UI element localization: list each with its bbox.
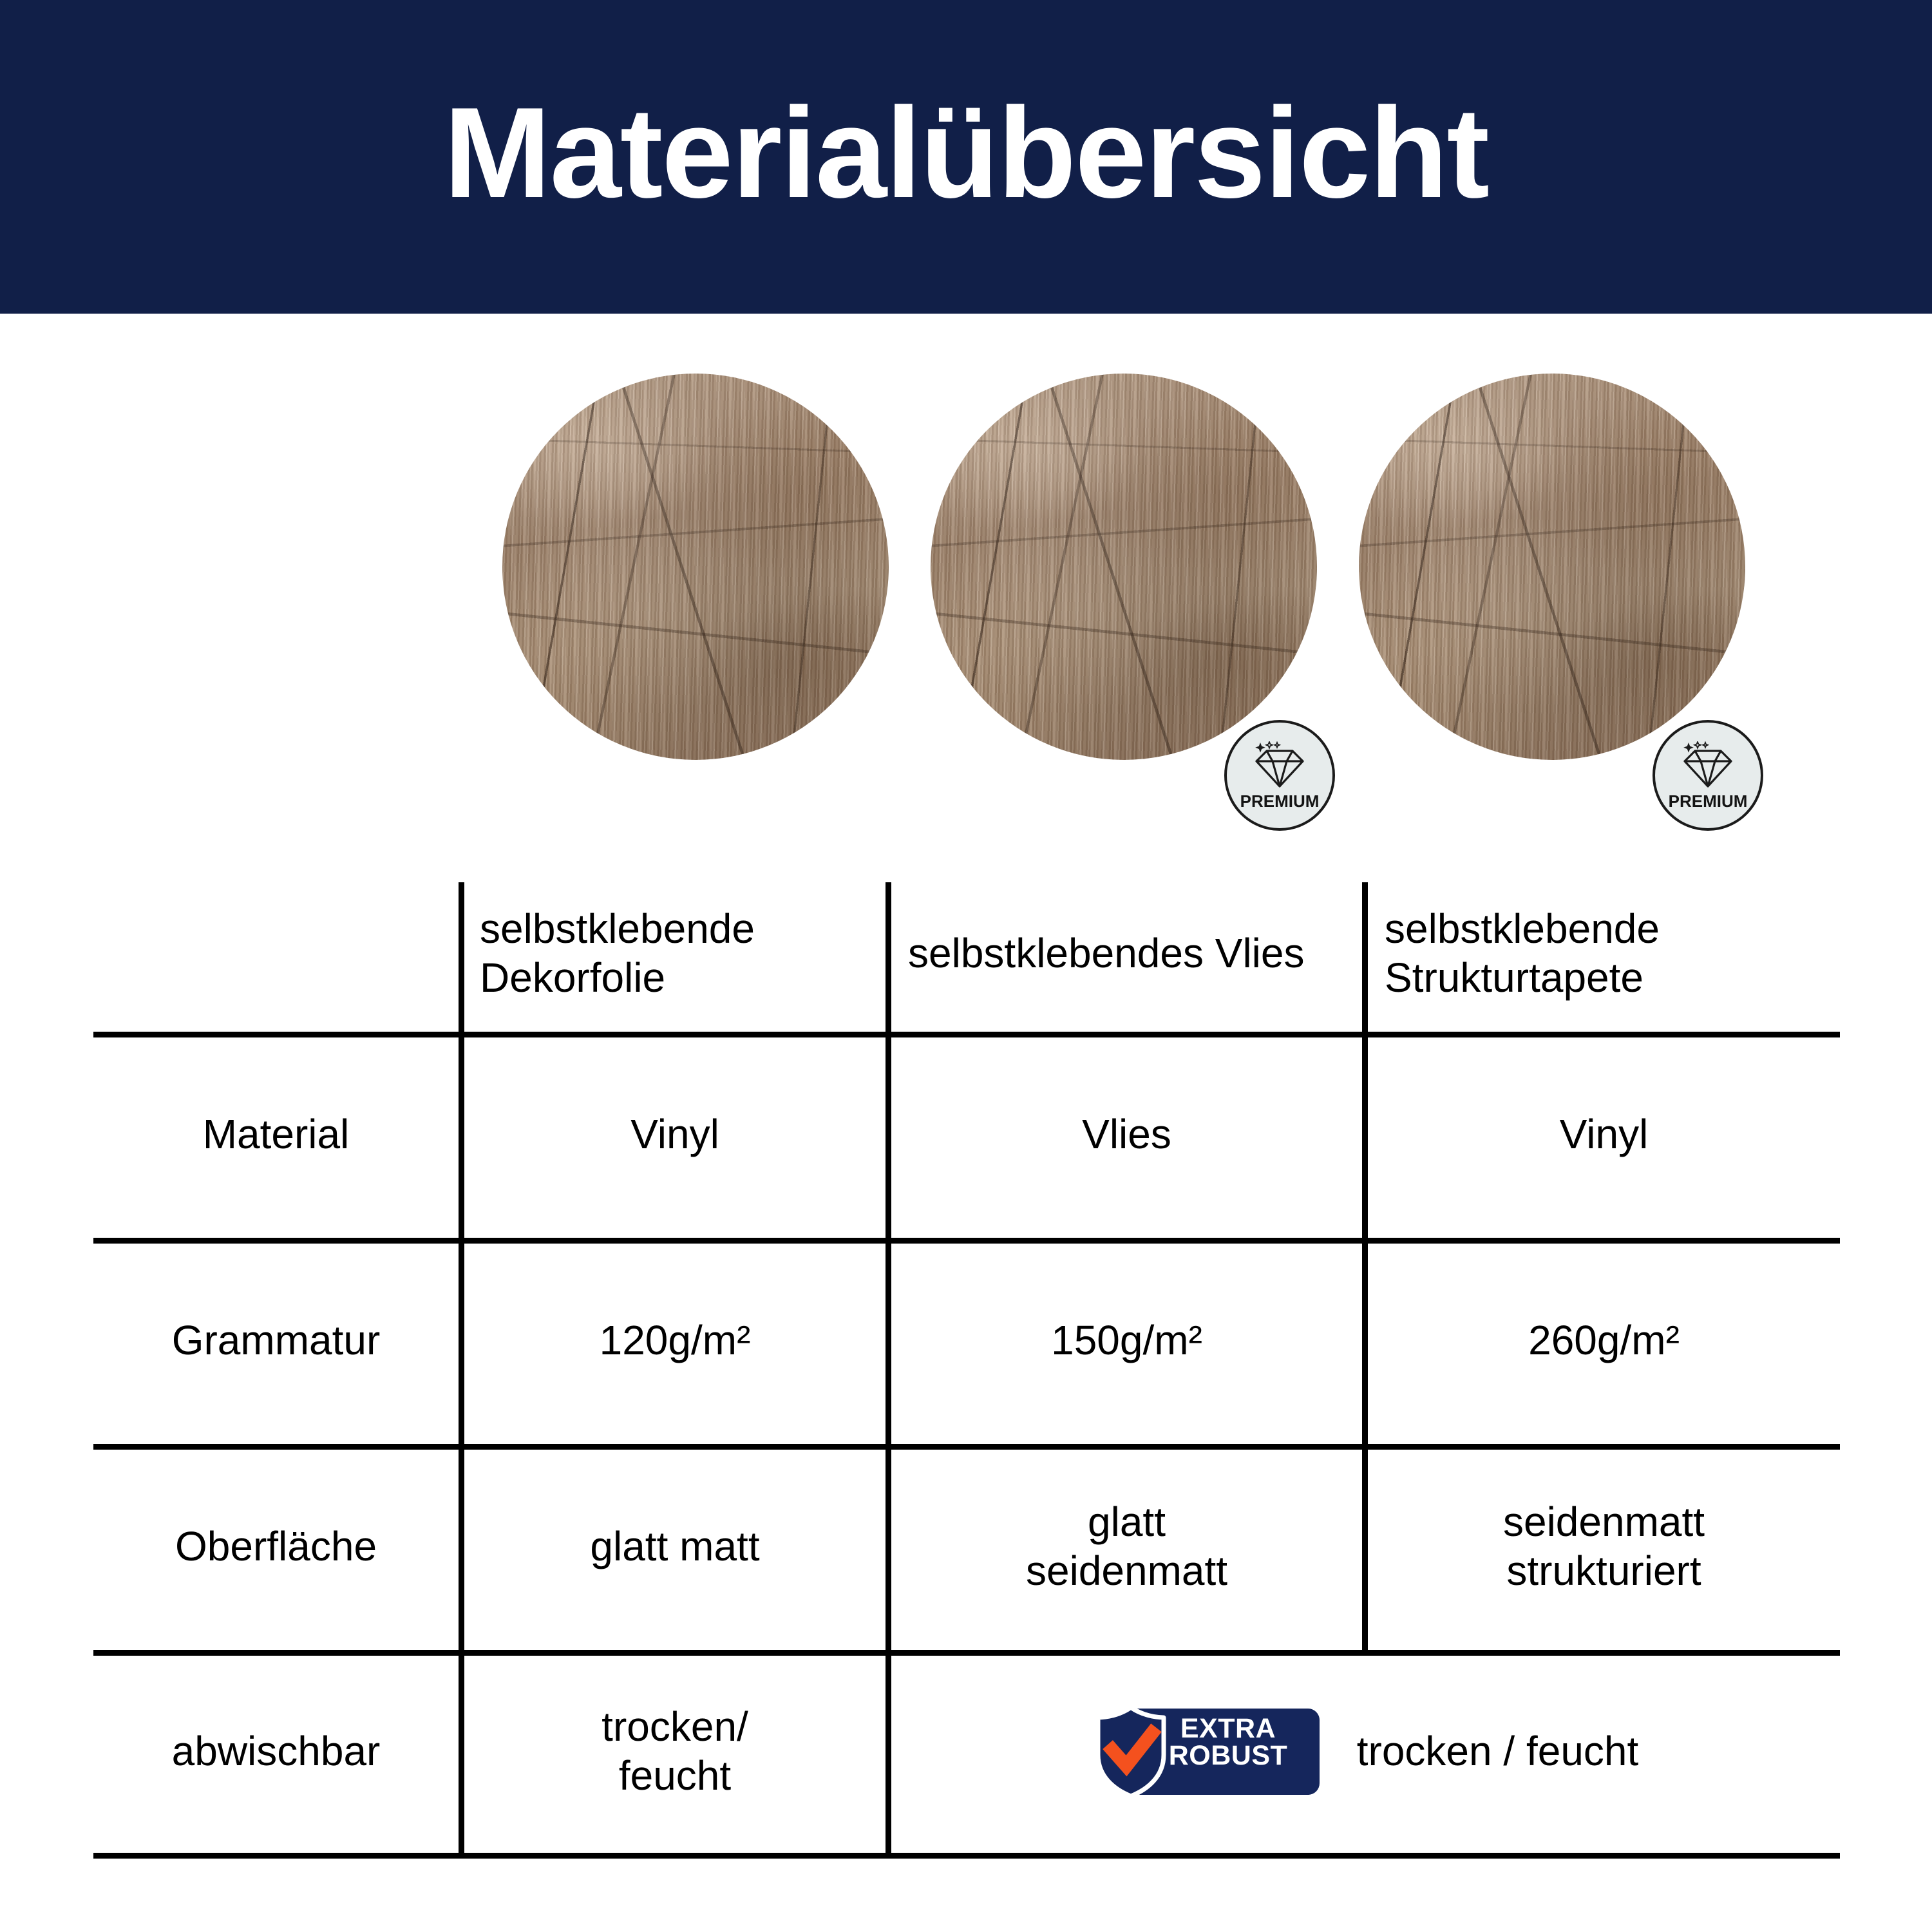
cell-value: Vlies [1082,1110,1171,1159]
cell-value: 150g/m² [1051,1316,1202,1365]
cell-value: 260g/m² [1528,1316,1680,1365]
extra-robust-badge: EXTRAROBUST [1093,1703,1320,1800]
cell-value: seidenmattstrukturiert [1503,1498,1705,1595]
column-header-label: selbstklebende Strukturtapete [1385,905,1829,1002]
cell-value: glatt matt [590,1522,759,1571]
table-vline-3 [1362,882,1368,1650]
extra-robust-label: EXTRAROBUST [1169,1715,1288,1769]
table-vline-1 [459,882,464,1853]
row-label: abwischbar [172,1727,381,1776]
table-cell-oberflaeche-strukturtapete: seidenmattstrukturiert [1368,1444,1840,1650]
wood-texture-image [931,374,1317,760]
premium-badge-strukturtapete: PREMIUM [1646,714,1770,837]
row-label: Material [203,1110,350,1159]
table-cell-material-vlies: Vlies [891,1032,1362,1238]
cell-value: trocken / feucht [1357,1727,1639,1776]
table-column-header-strukturtapete: selbstklebende Strukturtapete [1385,876,1829,1032]
table-column-header-vlies: selbstklebendes Vlies [908,876,1352,1032]
table-cell-oberflaeche-dekorfolie: glatt matt [464,1444,885,1650]
table-cell-oberflaeche-vlies: glattseidenmatt [891,1444,1362,1650]
table-cell-grammatur-dekorfolie: 120g/m² [464,1238,885,1444]
column-header-label: selbstklebendes Vlies [908,929,1304,978]
table-column-header-dekorfolie: selbstklebende Dekorfolie [480,876,866,1032]
cell-value: Vinyl [630,1110,719,1159]
table-cell-material-strukturtapete: Vinyl [1368,1032,1840,1238]
swatch-circle-dekorfolie[interactable] [502,374,889,760]
column-header-label: selbstklebende Dekorfolie [480,905,866,1002]
premium-badge-label: PREMIUM [1669,793,1748,810]
cell-value: glattseidenmatt [1026,1498,1227,1595]
row-label: Grammatur [172,1316,381,1365]
table-row-label-oberflaeche: Oberfläche [93,1444,459,1650]
cell-value: trocken/feucht [601,1703,748,1800]
extra-robust-line1: EXTRA [1180,1713,1276,1744]
table-vline-2 [885,882,891,1853]
swatch-circle-strukturtapete[interactable] [1359,374,1745,760]
table-row-label-abwischbar: abwischbar [93,1650,459,1853]
table-cell-material-dekorfolie: Vinyl [464,1032,885,1238]
wood-texture-image [1359,374,1745,760]
extra-robust-line2: ROBUST [1169,1740,1288,1771]
cell-value: Vinyl [1560,1110,1649,1159]
table-cell-abwischbar-dekorfolie: trocken/feucht [464,1650,885,1853]
table-row-label-grammatur: Grammatur [93,1238,459,1444]
table-cell-grammatur-vlies: 150g/m² [891,1238,1362,1444]
swatch-row: PREMIUM [0,361,1932,773]
premium-badge-label: PREMIUM [1240,793,1320,810]
page-title: Materialübersicht [444,89,1488,218]
table-cell-grammatur-strukturtapete: 260g/m² [1368,1238,1840,1444]
table-hline-bottom [93,1853,1840,1859]
material-spec-table: selbstklebende Dekorfolie selbstklebende… [93,869,1840,1855]
shield-check-icon [1093,1705,1169,1810]
row-label: Oberfläche [175,1522,377,1571]
swatch-circle-vlies[interactable] [931,374,1317,760]
cell-value: 120g/m² [600,1316,751,1365]
table-cell-abwischbar-merged: EXTRAROBUST trocken / feucht [891,1650,1840,1853]
table-row-label-material: Material [93,1032,459,1238]
diamond-icon [1681,741,1735,791]
header-banner: Materialübersicht [0,0,1932,314]
diamond-icon [1253,741,1307,791]
premium-badge-vlies: PREMIUM [1218,714,1341,837]
wood-texture-image [502,374,889,760]
